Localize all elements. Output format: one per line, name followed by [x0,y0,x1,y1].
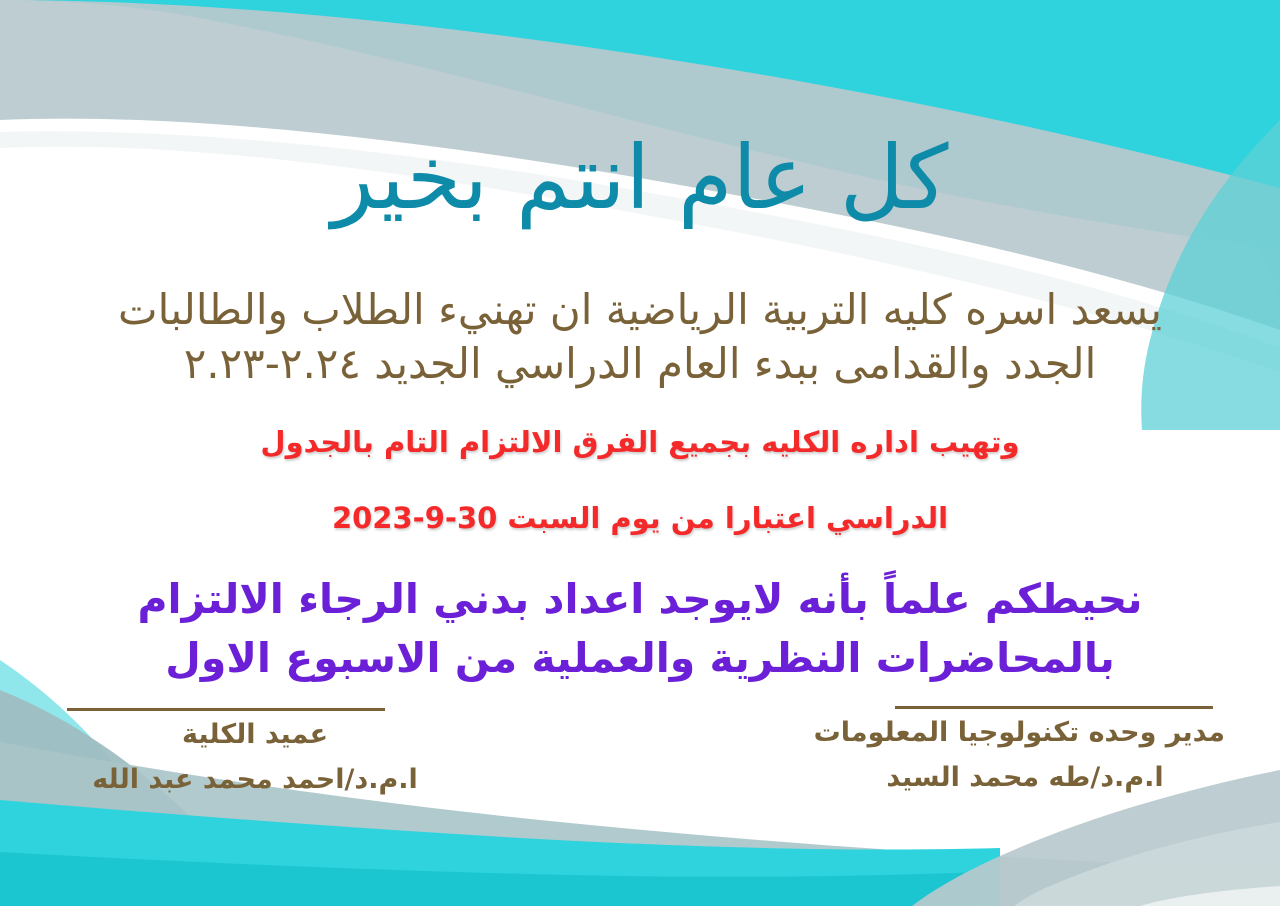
card-content: كل عام انتم بخير يسعد اسره كليه التربية … [0,0,1280,906]
body-line-2: الجدد والقدامى ببدء العام الدراسي الجديد… [40,337,1240,391]
signature-name: ا.م.د/احمد محمد عبد الله [55,760,455,799]
emphasis-paragraph: نحيطكم علماً بأنه لايوجد اعداد بدني الرج… [40,570,1240,689]
signature-block-dean: عميد الكلية ا.م.د/احمد محمد عبد الله [55,708,455,799]
notice-line-1: وتهيب اداره الكليه بجميع الفرق الالتزام … [40,424,1240,460]
signature-name: ا.م.د/طه محمد السيد [825,758,1225,797]
body-line-1: يسعد اسره كليه التربية الرياضية ان تهنيء… [40,283,1240,337]
emphasis-line-1: نحيطكم علماً بأنه لايوجد اعداد بدني الرج… [40,570,1240,629]
signature-title: مدير وحده تكنولوجيا المعلومات [825,715,1225,750]
announcement-card: كل عام انتم بخير يسعد اسره كليه التربية … [0,0,1280,906]
page-title: كل عام انتم بخير [0,130,1280,227]
body-paragraph: يسعد اسره كليه التربية الرياضية ان تهنيء… [40,283,1240,391]
signature-rule [895,706,1213,709]
signature-block-it-manager: مدير وحده تكنولوجيا المعلومات ا.م.د/طه م… [825,706,1225,797]
signature-title: عميد الكلية [55,717,455,752]
emphasis-line-2: بالمحاضرات النظرية والعملية من الاسبوع ا… [40,629,1240,688]
signature-rule [67,708,385,711]
notice-line-2: الدراسي اعتبارا من يوم السبت 30-9-2023 [40,500,1240,536]
